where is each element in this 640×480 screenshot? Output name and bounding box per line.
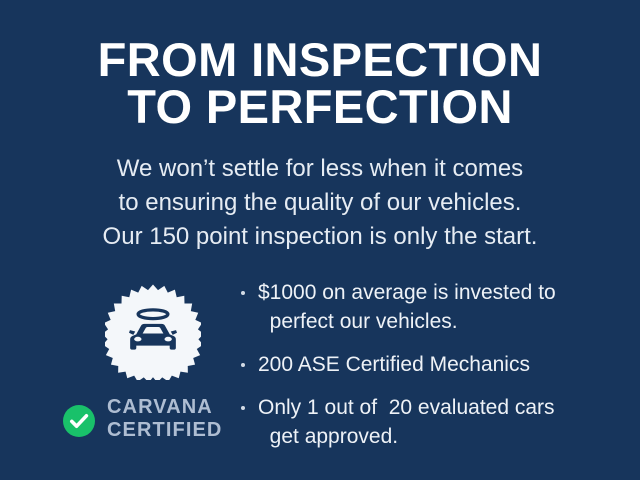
certified-label: CARVANA CERTIFIED: [107, 396, 222, 442]
carvana-certified-banner: FROM INSPECTION TO PERFECTION We won’t s…: [0, 0, 640, 480]
certified-label-line-1: CARVANA: [107, 396, 222, 419]
list-item: Only 1 out of 20 evaluated cars get appr…: [238, 393, 610, 451]
benefits-list: $1000 on average is invested to perfect …: [238, 278, 610, 451]
headline-line-2: TO PERFECTION: [0, 83, 640, 130]
carvana-certified-lockup: CARVANA CERTIFIED: [52, 394, 230, 450]
bullet-dot-icon: [241, 291, 245, 295]
list-item-label: Only 1 out of 20 evaluated cars get appr…: [258, 393, 610, 451]
certified-label-line-2: CERTIFIED: [107, 419, 222, 442]
certification-block: CARVANA CERTIFIED: [52, 278, 230, 458]
list-item: $1000 on average is invested to perfect …: [238, 278, 610, 336]
bullet-dot-icon: [241, 363, 245, 367]
lower-section: CARVANA CERTIFIED $1000 on average is in…: [0, 278, 640, 478]
list-item-label: $1000 on average is invested to perfect …: [258, 278, 610, 336]
list-item: 200 ASE Certified Mechanics: [238, 350, 610, 379]
subcopy-line-1: We won’t settle for less when it comes: [0, 152, 640, 186]
subcopy-paragraph: We won’t settle for less when it comes t…: [0, 152, 640, 254]
list-item-label: 200 ASE Certified Mechanics: [258, 350, 610, 379]
green-check-circle-icon: [62, 404, 96, 438]
headline-line-1: FROM INSPECTION: [0, 36, 640, 83]
car-with-halo-starburst-seal-icon: [105, 284, 201, 380]
subcopy-line-2: to ensuring the quality of our vehicles.: [0, 186, 640, 220]
bullet-dot-icon: [241, 406, 245, 410]
page-title: FROM INSPECTION TO PERFECTION: [0, 36, 640, 130]
subcopy-line-3: Our 150 point inspection is only the sta…: [0, 220, 640, 254]
